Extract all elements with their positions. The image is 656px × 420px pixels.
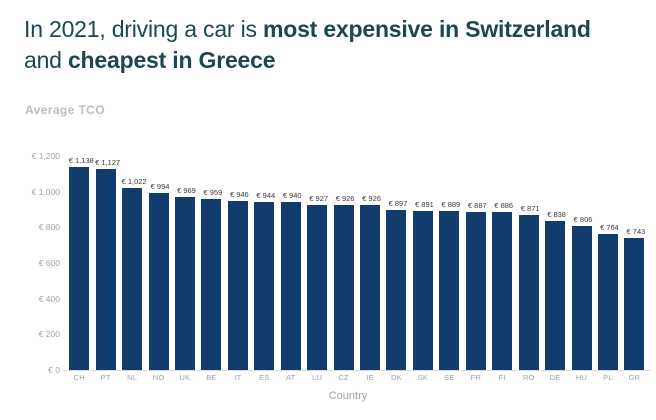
bar-value-label: € 940	[283, 191, 302, 200]
bar-item[interactable]: € 897	[383, 140, 409, 370]
bar-value-label: € 897	[389, 199, 408, 208]
bar[interactable]	[572, 226, 592, 370]
headline-text-2: and	[24, 47, 68, 73]
bar-value-label: € 891	[415, 200, 434, 209]
x-axis-tick-label: PL	[595, 373, 621, 382]
bar-value-label: € 944	[256, 191, 275, 200]
bar[interactable]	[281, 202, 301, 370]
bar-item[interactable]: € 886	[489, 140, 515, 370]
bar[interactable]	[413, 211, 433, 370]
bar-value-label: € 871	[521, 204, 540, 213]
bar-item[interactable]: € 944	[251, 140, 277, 370]
x-axis-tick-label: CZ	[330, 373, 356, 382]
bar-item[interactable]: € 940	[278, 140, 304, 370]
bar-value-label: € 806	[574, 215, 593, 224]
x-axis-tick-label: RO	[515, 373, 541, 382]
x-axis-tick-label: GR	[621, 373, 647, 382]
bar[interactable]	[519, 215, 539, 370]
chart-subtitle: Average TCO	[25, 103, 105, 117]
bar[interactable]	[598, 234, 618, 370]
bar-item[interactable]: € 889	[436, 140, 462, 370]
bar-value-label: € 1,138	[69, 156, 94, 165]
bar-item[interactable]: € 838	[542, 140, 568, 370]
bar[interactable]	[439, 211, 459, 370]
bar[interactable]	[545, 221, 565, 370]
x-axis-tick-label: FR	[463, 373, 489, 382]
bar-item[interactable]: € 1,127	[92, 140, 118, 370]
bar-series: € 1,138€ 1,127€ 1,022€ 994€ 969€ 959€ 94…	[66, 140, 648, 370]
bar-item[interactable]: € 891	[410, 140, 436, 370]
x-axis-tick-label: AT	[278, 373, 304, 382]
bar-item[interactable]: € 946	[225, 140, 251, 370]
bar-value-label: € 1,127	[95, 158, 120, 167]
x-axis-tick-label: FI	[489, 373, 515, 382]
y-axis-tick: € 800	[0, 222, 60, 232]
x-axis-tick-label: DE	[542, 373, 568, 382]
bar-value-label: € 889	[441, 200, 460, 209]
bar-item[interactable]: € 926	[357, 140, 383, 370]
x-axis-tick-label: PT	[92, 373, 118, 382]
bar[interactable]	[386, 210, 406, 370]
headline-emphasis-2: cheapest in Greece	[68, 47, 275, 73]
y-axis-tick: € 1,000	[0, 187, 60, 197]
y-axis-tick: € 1,200	[0, 151, 60, 161]
bar-value-label: € 994	[151, 182, 170, 191]
x-axis-tick-label: IE	[357, 373, 383, 382]
bar-value-label: € 886	[494, 201, 513, 210]
x-axis-tick-label: UK	[172, 373, 198, 382]
x-axis-title: Country	[0, 390, 656, 402]
bar-item[interactable]: € 743	[621, 140, 647, 370]
bar-value-label: € 764	[600, 223, 619, 232]
bar-item[interactable]: € 1,138	[66, 140, 92, 370]
y-axis-tick: € 400	[0, 294, 60, 304]
y-axis-tick: € 200	[0, 329, 60, 339]
bar-value-label: € 1,022	[122, 177, 147, 186]
x-axis-tick-label: CH	[66, 373, 92, 382]
bar-item[interactable]: € 994	[145, 140, 171, 370]
bar[interactable]	[69, 167, 89, 370]
x-axis-tick-label: SE	[436, 373, 462, 382]
bar-value-label: € 838	[547, 210, 566, 219]
page-title: In 2021, driving a car is most expensive…	[24, 14, 624, 76]
bar-item[interactable]: € 871	[515, 140, 541, 370]
bar-item[interactable]: € 806	[568, 140, 594, 370]
bar-item[interactable]: € 926	[330, 140, 356, 370]
bar[interactable]	[492, 212, 512, 370]
x-axis-tick-label: HU	[568, 373, 594, 382]
bar-value-label: € 743	[627, 227, 646, 236]
bar[interactable]	[466, 212, 486, 370]
bar-value-label: € 887	[468, 201, 487, 210]
bar[interactable]	[254, 202, 274, 370]
y-axis-tick: € 600	[0, 258, 60, 268]
bar[interactable]	[201, 199, 221, 370]
bar-item[interactable]: € 887	[463, 140, 489, 370]
x-axis-tick-label: NO	[145, 373, 171, 382]
bar[interactable]	[624, 238, 644, 371]
bar-item[interactable]: € 959	[198, 140, 224, 370]
x-axis-tick-label: IT	[225, 373, 251, 382]
x-axis-tick-label: SK	[410, 373, 436, 382]
bar-item[interactable]: € 927	[304, 140, 330, 370]
bar-value-label: € 926	[362, 194, 381, 203]
x-axis-tick-label: DK	[383, 373, 409, 382]
bar-chart: € 0€ 200€ 400€ 600€ 800€ 1,000€ 1,200 € …	[0, 140, 656, 420]
x-axis-labels: CHPTNLNOUKBEITESATLUCZIEDKSKSEFRFIRODEHU…	[66, 373, 648, 382]
bar[interactable]	[175, 197, 195, 370]
x-axis-tick-label: ES	[251, 373, 277, 382]
bar-value-label: € 927	[309, 194, 328, 203]
bar-value-label: € 959	[204, 188, 223, 197]
bar-value-label: € 926	[336, 194, 355, 203]
bar[interactable]	[122, 188, 142, 370]
bar[interactable]	[96, 169, 116, 370]
headline-emphasis-1: most expensive in Switzerland	[263, 16, 591, 42]
x-axis-tick-label: BE	[198, 373, 224, 382]
bar[interactable]	[228, 201, 248, 370]
bar[interactable]	[149, 193, 169, 370]
bar[interactable]	[334, 205, 354, 370]
bar-item[interactable]: € 1,022	[119, 140, 145, 370]
bar-item[interactable]: € 764	[595, 140, 621, 370]
headline-text-1: In 2021, driving a car is	[24, 16, 263, 42]
y-axis-tick: € 0	[0, 365, 60, 375]
x-axis-tick-label: NL	[119, 373, 145, 382]
bar[interactable]	[307, 205, 327, 370]
bar-value-label: € 969	[177, 186, 196, 195]
x-axis-line	[63, 370, 651, 371]
x-axis-tick-label: LU	[304, 373, 330, 382]
bar[interactable]	[360, 205, 380, 370]
bar-value-label: € 946	[230, 190, 249, 199]
bar-item[interactable]: € 969	[172, 140, 198, 370]
